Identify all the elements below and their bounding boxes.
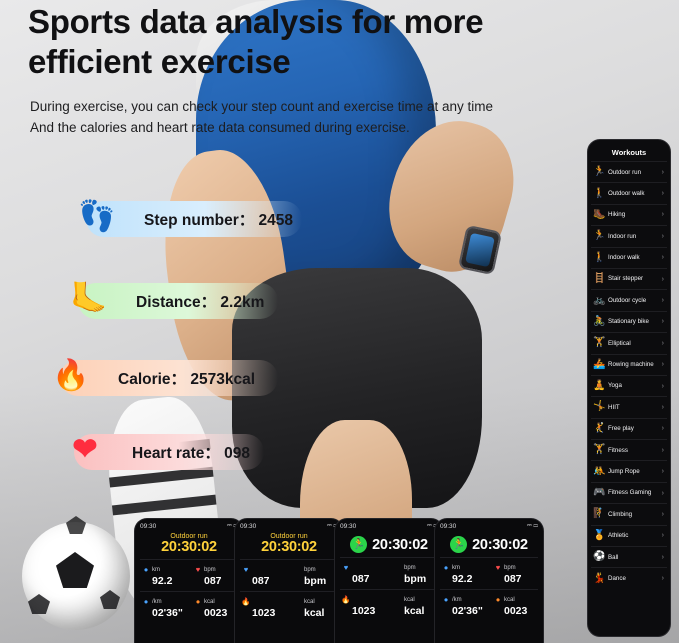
watch-metric-values-1: 087bpm bbox=[340, 573, 438, 585]
pace-icon: 🔥 bbox=[240, 597, 252, 606]
watch-metric-label-b1: bpm bbox=[204, 567, 238, 573]
workouts-title: Workouts bbox=[591, 145, 667, 161]
watch-metric-label-b2: kcal bbox=[304, 599, 338, 605]
workout-item-climbing[interactable]: 🧗Climbing› bbox=[591, 503, 667, 524]
workout-item-label: Climbing bbox=[606, 511, 658, 518]
heart-icon: ♥ bbox=[192, 565, 204, 574]
chevron-right-icon: › bbox=[658, 490, 664, 497]
watch-clock: 09:30 bbox=[340, 523, 356, 530]
pace-icon: ● bbox=[440, 595, 452, 604]
page-subtitle: During exercise, you can check your step… bbox=[30, 97, 630, 139]
divider bbox=[340, 589, 438, 590]
workout-item-label: Dance bbox=[606, 575, 658, 582]
chevron-right-icon: › bbox=[658, 233, 664, 240]
workout-item-label: Fitness bbox=[606, 447, 658, 454]
workout-item-label: Outdoor walk bbox=[606, 190, 658, 197]
metric-pill-heart-rate: ❤ Heart rate： 098 bbox=[74, 434, 264, 470]
running-icon: 🏃 bbox=[350, 536, 367, 553]
watch-metric-labels-1: ●km♥bpm bbox=[440, 563, 538, 572]
chevron-right-icon: › bbox=[658, 468, 664, 475]
watch-metric-value-b1: bpm bbox=[404, 573, 438, 585]
chevron-right-icon: › bbox=[658, 383, 664, 390]
divider bbox=[140, 559, 238, 560]
watch-metric-value-a2: 1023 bbox=[340, 605, 404, 617]
divider bbox=[440, 589, 538, 590]
flame-icon: 🔥 bbox=[42, 344, 100, 406]
divider bbox=[340, 557, 438, 558]
shoe-print-icon: 🦶 bbox=[60, 267, 118, 329]
footsteps-icon: 👣 bbox=[68, 185, 126, 247]
watch-outdoor-run-heart[interactable]: 09:30⎓ ▭Outdoor run20:30:02♥bpm087bpm🔥kc… bbox=[234, 518, 344, 643]
watch-metric-values-1: 92.2087 bbox=[440, 573, 538, 585]
workout-item-free-play[interactable]: 🤾Free play› bbox=[591, 418, 667, 439]
chevron-right-icon: › bbox=[658, 404, 664, 411]
heartbeat-icon: ❤ bbox=[56, 418, 114, 480]
watch-metric-labels-1: ♥bpm bbox=[240, 565, 338, 574]
watch-status-bar: 09:30⎓ ▭ bbox=[240, 523, 338, 530]
watch-running-stats[interactable]: 09:30⎓ ▭🏃20:30:02●km♥bpm92.2087●/km●kcal… bbox=[434, 518, 544, 643]
watch-metric-label-b2: kcal bbox=[404, 597, 438, 603]
watch-metric-label-a1: km bbox=[452, 565, 492, 571]
watch-metric-label-b1: bpm bbox=[304, 567, 338, 573]
watch-clock: 09:30 bbox=[440, 523, 456, 530]
workout-item-label: Fitness Gaming bbox=[606, 489, 658, 496]
watch-timer: 20:30:02 bbox=[372, 537, 428, 553]
watch-metric-value-b2: kcal bbox=[404, 605, 438, 617]
metric-pill-calorie: 🔥 Calorie： 2573kcal bbox=[60, 360, 278, 396]
watch-metric-value-a2: 02'36" bbox=[440, 605, 504, 617]
watch-metric-values-2: 1023kcal bbox=[240, 607, 338, 619]
watch-metric-value-a2: 1023 bbox=[240, 607, 304, 619]
gamepad-icon: 🎮 bbox=[593, 488, 606, 498]
watch-metric-value-b2: kcal bbox=[304, 607, 338, 619]
watch-timer: 20:30:02 bbox=[140, 539, 238, 555]
watch-metric-value-a2: 02'36" bbox=[140, 607, 204, 619]
watch-metric-labels-1: ●km♥bpm bbox=[140, 565, 238, 574]
pace-icon: 🔥 bbox=[340, 595, 352, 604]
watch-metric-value-a1: 92.2 bbox=[440, 573, 504, 585]
subtitle-line-2: And the calories and heart rate data con… bbox=[30, 118, 630, 139]
workout-item-label: Yoga bbox=[606, 382, 658, 389]
chevron-right-icon: › bbox=[658, 511, 664, 518]
watch-timer: 20:30:02 bbox=[472, 537, 528, 553]
elliptical-icon: 🏋 bbox=[593, 338, 606, 348]
chevron-right-icon: › bbox=[658, 425, 664, 432]
watch-status-bar: 09:30⎓ ▭ bbox=[140, 523, 238, 530]
watch-metric-label-b2: kcal bbox=[504, 597, 538, 603]
watch-metric-value-a1: 087 bbox=[240, 575, 304, 587]
watch-metric-values-2: 02'36"0023 bbox=[140, 607, 238, 619]
watch-metric-label-a2: /km bbox=[152, 599, 192, 605]
workout-item-rowing-machine[interactable]: 🚣Rowing machine› bbox=[591, 354, 667, 375]
workout-item-outdoor-walk[interactable]: 🚶Outdoor walk› bbox=[591, 182, 667, 203]
workout-item-label: Stair stepper bbox=[606, 275, 658, 282]
treadmill-icon: 🏃 bbox=[593, 231, 606, 241]
workout-item-label: Jump Rope bbox=[606, 468, 658, 475]
ball-pentagon-icon bbox=[56, 552, 94, 588]
watch-metric-label-b1: bpm bbox=[404, 565, 438, 571]
workout-item-elliptical[interactable]: 🏋Elliptical› bbox=[591, 332, 667, 353]
workout-item-outdoor-run[interactable]: 🏃Outdoor run› bbox=[591, 161, 667, 182]
bicycle-icon: 🚲 bbox=[593, 296, 606, 306]
divider bbox=[240, 559, 338, 560]
climbing-icon: 🧗 bbox=[593, 509, 606, 519]
divider bbox=[240, 591, 338, 592]
ball-icon: ⚽ bbox=[593, 552, 606, 562]
fitness-icon: 🏋 bbox=[593, 445, 606, 455]
chevron-right-icon: › bbox=[658, 340, 664, 347]
workout-item-label: Indoor run bbox=[606, 233, 658, 240]
ball-pentagon-icon bbox=[100, 590, 120, 609]
stationary-bike-icon: 🚴 bbox=[593, 317, 606, 327]
watch-metric-values-1: 92.2087 bbox=[140, 575, 238, 587]
watch-metric-labels-1: ♥bpm bbox=[340, 563, 438, 572]
metric-pill-distance: 🦶 Distance： 2.2km bbox=[78, 283, 278, 319]
chevron-right-icon: › bbox=[658, 575, 664, 582]
workout-item-label: Athletic bbox=[606, 532, 658, 539]
yoga-icon: 🧘 bbox=[593, 381, 606, 391]
chevron-right-icon: › bbox=[658, 318, 664, 325]
smartwatch-on-wrist bbox=[458, 225, 502, 276]
workout-item-fitness-gaming[interactable]: 🎮Fitness Gaming› bbox=[591, 482, 667, 503]
watch-metric-value-b2: 0023 bbox=[504, 605, 538, 617]
workout-item-label: Elliptical bbox=[606, 340, 658, 347]
hiit-icon: 🤸 bbox=[593, 402, 606, 412]
distance-icon: ● bbox=[440, 563, 452, 572]
divider bbox=[140, 591, 238, 592]
pace-icon: ● bbox=[140, 597, 152, 606]
chevron-right-icon: › bbox=[658, 211, 664, 218]
workout-item-label: Rowing machine bbox=[606, 361, 658, 368]
workout-item-jump-rope[interactable]: 🤼Jump Rope› bbox=[591, 460, 667, 481]
watch-timer-row: 🏃20:30:02 bbox=[340, 536, 438, 553]
workout-item-yoga[interactable]: 🧘Yoga› bbox=[591, 375, 667, 396]
hiking-icon: 🥾 bbox=[593, 210, 606, 220]
metric-calorie-label: Calorie： 2573kcal bbox=[118, 367, 255, 389]
calorie-icon: ● bbox=[192, 597, 204, 606]
walking-icon: 🚶 bbox=[593, 189, 606, 199]
watch-metric-labels-2: 🔥kcal bbox=[240, 597, 338, 606]
workout-item-fitness[interactable]: 🏋Fitness› bbox=[591, 439, 667, 460]
divider bbox=[440, 557, 538, 558]
jump-rope-icon: 🤼 bbox=[593, 467, 606, 477]
chevron-right-icon: › bbox=[658, 276, 664, 283]
workouts-list[interactable]: 🏃Outdoor run›🚶Outdoor walk›🥾Hiking›🏃Indo… bbox=[591, 161, 667, 589]
workout-item-label: Outdoor run bbox=[606, 169, 658, 176]
watch-metric-values-2: 02'36"0023 bbox=[440, 605, 538, 617]
workout-item-label: Ball bbox=[606, 554, 658, 561]
free-play-icon: 🤾 bbox=[593, 424, 606, 434]
watch-metric-labels-2: ●/km●kcal bbox=[140, 597, 238, 606]
rowing-icon: 🚣 bbox=[593, 360, 606, 370]
workout-item-dance[interactable]: 💃Dance› bbox=[591, 567, 667, 588]
ball-pentagon-icon bbox=[66, 516, 86, 534]
dance-icon: 💃 bbox=[593, 574, 606, 584]
workout-item-stationary-bike[interactable]: 🚴Stationary bike› bbox=[591, 311, 667, 332]
watch-metric-labels-2: ●/km●kcal bbox=[440, 595, 538, 604]
watch-metric-value-a1: 92.2 bbox=[140, 575, 204, 587]
watch-running-timer[interactable]: 09:30⎓ ▭🏃20:30:02♥bpm087bpm🔥kcal1023kcal bbox=[334, 518, 444, 643]
watch-metric-value-a1: 087 bbox=[340, 573, 404, 585]
watch-timer: 20:30:02 bbox=[240, 539, 338, 555]
watch-outdoor-run-detail[interactable]: 09:30⎓ ▭Outdoor run20:30:02●km♥bpm92.208… bbox=[134, 518, 244, 643]
athletic-icon: 🏅 bbox=[593, 531, 606, 541]
workout-item-indoor-walk[interactable]: 🚶Indoor walk› bbox=[591, 247, 667, 268]
workout-item-label: Hiking bbox=[606, 211, 658, 218]
watch-metric-value-b1: 087 bbox=[504, 573, 538, 585]
metric-distance-label: Distance： 2.2km bbox=[136, 290, 264, 312]
workout-item-hiit[interactable]: 🤸HIIT› bbox=[591, 396, 667, 417]
workout-item-ball[interactable]: ⚽Ball› bbox=[591, 546, 667, 567]
running-icon: 🏃 bbox=[593, 167, 606, 177]
chevron-right-icon: › bbox=[658, 361, 664, 368]
workout-item-label: Free play bbox=[606, 425, 658, 432]
workout-item-outdoor-cycle[interactable]: 🚲Outdoor cycle› bbox=[591, 289, 667, 310]
workout-item-hiking[interactable]: 🥾Hiking› bbox=[591, 204, 667, 225]
workouts-panel: Workouts 🏃Outdoor run›🚶Outdoor walk›🥾Hik… bbox=[587, 139, 671, 637]
watch-metric-label-b1: bpm bbox=[504, 565, 538, 571]
watch-metric-labels-2: 🔥kcal bbox=[340, 595, 438, 604]
chevron-right-icon: › bbox=[658, 532, 664, 539]
watch-timer-row: 🏃20:30:02 bbox=[440, 536, 538, 553]
watch-status-icons: ⎓ ▭ bbox=[527, 523, 538, 530]
chevron-right-icon: › bbox=[658, 169, 664, 176]
metric-pill-step: 👣 Step number： 2458 bbox=[86, 201, 302, 237]
watch-clock: 09:30 bbox=[140, 523, 156, 530]
watch-clock: 09:30 bbox=[240, 523, 256, 530]
distance-icon: ♥ bbox=[340, 563, 352, 572]
page-title: Sports data analysis for more efficient … bbox=[28, 2, 588, 83]
chevron-right-icon: › bbox=[658, 554, 664, 561]
ball-pentagon-icon bbox=[28, 594, 50, 614]
metric-step-label: Step number： 2458 bbox=[144, 208, 293, 230]
soccer-ball bbox=[22, 522, 130, 630]
watch-metric-label-a2: /km bbox=[452, 597, 492, 603]
watch-status-bar: 09:30⎓ ▭ bbox=[440, 523, 538, 530]
subtitle-line-1: During exercise, you can check your step… bbox=[30, 97, 630, 118]
watch-metric-label-a1: km bbox=[152, 567, 192, 573]
workout-item-athletic[interactable]: 🏅Athletic› bbox=[591, 525, 667, 546]
workout-item-stair-stepper[interactable]: 🪜Stair stepper› bbox=[591, 268, 667, 289]
workout-item-label: Indoor walk bbox=[606, 254, 658, 261]
metric-heart-rate-label: Heart rate： 098 bbox=[132, 441, 250, 463]
running-icon: 🏃 bbox=[450, 536, 467, 553]
watch-metric-label-b2: kcal bbox=[204, 599, 238, 605]
watch-status-bar: 09:30⎓ ▭ bbox=[340, 523, 438, 530]
chevron-right-icon: › bbox=[658, 254, 664, 261]
workout-item-label: HIIT bbox=[606, 404, 658, 411]
chevron-right-icon: › bbox=[658, 447, 664, 454]
workout-item-label: Outdoor cycle bbox=[606, 297, 658, 304]
calorie-icon: ● bbox=[492, 595, 504, 604]
watch-metric-value-b1: bpm bbox=[304, 575, 338, 587]
watch-metric-values-2: 1023kcal bbox=[340, 605, 438, 617]
indoor-walk-icon: 🚶 bbox=[593, 253, 606, 263]
watch-metric-values-1: 087bpm bbox=[240, 575, 338, 587]
distance-icon: ♥ bbox=[240, 565, 252, 574]
chevron-right-icon: › bbox=[658, 297, 664, 304]
workout-item-label: Stationary bike bbox=[606, 318, 658, 325]
watch-metric-value-b2: 0023 bbox=[204, 607, 238, 619]
stairs-icon: 🪜 bbox=[593, 274, 606, 284]
heart-icon: ♥ bbox=[492, 563, 504, 572]
chevron-right-icon: › bbox=[658, 190, 664, 197]
workout-item-indoor-run[interactable]: 🏃Indoor run› bbox=[591, 225, 667, 246]
distance-icon: ● bbox=[140, 565, 152, 574]
watch-metric-value-b1: 087 bbox=[204, 575, 238, 587]
